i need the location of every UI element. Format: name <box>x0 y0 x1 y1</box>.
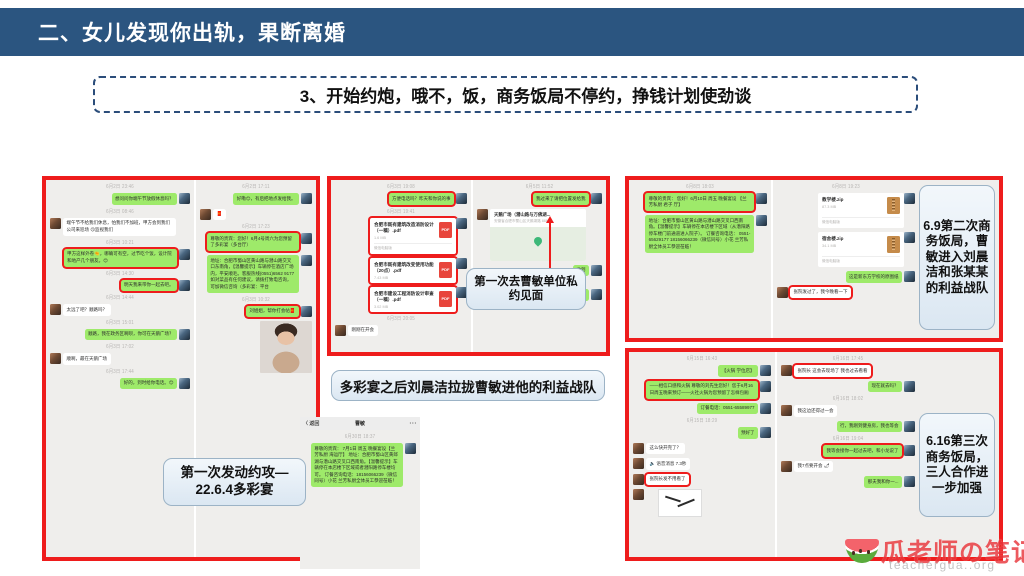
callout-after-colorful-banquet: 多彩宴之后刘晨洁拉拢曹敏进他的利益战队 <box>331 370 605 401</box>
avatar <box>904 232 915 243</box>
message-timestamp: 6月3日 10:32 <box>196 296 316 303</box>
chat-bubble[interactable]: 尊敬的贵宾：您好！6月4号周六为您预留了多彩宴（多台厅） <box>207 233 299 251</box>
chat-message-row: 地址：合肥市蜀山区黄山路与潜山路交叉口东南角，【温馨提示】车辆停在酒店广场内，平… <box>200 255 312 293</box>
chat-bubble[interactable]: 顺路，我在政务区啊呗，你可在天鹅广场？ <box>85 329 178 341</box>
message-timestamp: 6月3日 15:01 <box>46 319 194 326</box>
avatar <box>904 381 915 392</box>
chat-message-row: 张院长发不用看了 <box>633 474 771 486</box>
message-timestamp: 6月3日 19:41 <box>331 208 471 215</box>
callout-third-business-meal: 6.16第三次商务饭局，三人合作进一步加强 <box>919 413 995 517</box>
avatar <box>405 443 416 454</box>
callout-first-attack-text: 第一次发动约攻—22.6.4多彩宴 <box>167 465 302 499</box>
chat-bubble[interactable]: 订餐电话：0551-65589977 <box>697 403 758 415</box>
avatar <box>456 218 467 229</box>
file-attachment-card[interactable]: 宿舍楼.zip34.1 MB微信电脑版 <box>818 232 904 267</box>
chat-message-row: 好的，到时给你电话。😊 <box>50 378 190 390</box>
message-timestamp: 6月3日 17:44 <box>46 368 194 375</box>
chat-message-row: 甲方这样外卷🤏，哪确可有空，过节吃个饭，设计院和地产几个朋友。😊 <box>50 249 190 267</box>
chat-bubble[interactable]: 方便电话吗？昨天和你说的事 <box>389 193 455 205</box>
chat-file-row: 合肥市既有建筑改变使用功能（20点）.pdf7.43 MBPDF <box>335 258 467 283</box>
chat-message-row: 顺路，我在政务区啊呗，你可在天鹅广场？ <box>50 329 190 341</box>
file-size: 34.1 MB <box>822 244 843 248</box>
avatar <box>781 461 792 472</box>
message-timestamp: 6月3日 14:44 <box>46 295 194 302</box>
avatar <box>760 403 771 414</box>
chat-bubble[interactable]: 好嘞😊，有后把地点发给我。 <box>233 193 299 205</box>
avatar <box>50 304 61 315</box>
chat-message-row: 【火锅 学位店】 <box>633 365 771 377</box>
chat-bubble[interactable]: 我过来了请把位置发给我 <box>533 193 590 205</box>
chat-message-row: ——相信口感和火锅 尊敬的刘先生您好！您于6月16日周五晚來预订——火社火锅为您… <box>633 381 771 399</box>
pdf-file-icon: PDF <box>439 291 452 307</box>
chat-bubble[interactable]: 地址：合肥市蜀山区黄山路与潜山路交叉口东南角，【温馨提示】车辆停在酒店广场内，平… <box>207 255 299 293</box>
avatar <box>760 427 771 438</box>
message-timestamp: 6月16日 19:04 <box>777 436 919 443</box>
callout-third-business-meal-text: 6.16第三次商务饭局，三人合作进一步加强 <box>923 434 991 496</box>
avatar <box>756 215 767 226</box>
chat-column-mid-a: 6月3日 19:08方便电话吗？昨天和你说的事6月3日 19:41合肥市既有建筑… <box>331 180 473 352</box>
message-timestamp: 6月3日 20:05 <box>331 315 471 322</box>
file-size: 7.43 MB <box>374 276 439 280</box>
chat-message-row: 我过来了请把位置发给我 <box>477 193 602 205</box>
chat-message-row: 想问问你端午节放假休息吗？ <box>50 193 190 205</box>
message-timestamp: 6月8日 18:03 <box>629 184 771 191</box>
slide-header-bar: 二、女儿发现你出轨，果断离婚 <box>0 8 1024 56</box>
zip-file-icon <box>887 197 900 214</box>
avatar <box>760 365 771 376</box>
message-timestamp: 6月3日 19:08 <box>331 184 471 191</box>
watermelon-icon <box>845 539 879 563</box>
file-name: 合肥市既有建筑改造消防设计（一稿）.pdf <box>374 222 439 234</box>
avatar <box>591 193 602 204</box>
avatar <box>781 365 792 376</box>
file-attachment-card[interactable]: 合肥市既有建筑改造消防设计（一稿）.pdf1.6 MBPDF微信电脑版 <box>370 218 456 254</box>
chat-screen-header: 〈 返回 曹敏 ··· <box>300 417 420 431</box>
chat-location-row: 天鹅广场（潜山路与万佛湖...安徽省合肥市蜀山区天鹅湖路 888号 <box>477 209 602 261</box>
zip-file-icon <box>887 236 900 253</box>
avatar <box>633 474 644 485</box>
file-name: 宿舍楼.zip <box>822 236 843 242</box>
callout-first-private-visit-text: 第一次去曹敏单位私约见面 <box>471 275 581 304</box>
chat-bubble[interactable]: 太远了吧？顺路吗？ <box>63 304 111 316</box>
watermark: 瓜老师の笔记 teachergua..org <box>845 528 1020 574</box>
message-timestamp: 6月3日 10:21 <box>46 239 194 246</box>
avatar <box>904 193 915 204</box>
avatar <box>904 476 915 487</box>
avatar <box>335 325 346 336</box>
chat-bubble[interactable]: 行，我刚到健身房，我也等会 <box>837 421 903 433</box>
avatar <box>179 193 190 204</box>
avatar <box>301 193 312 204</box>
message-timestamp: 6月15日 16:43 <box>629 356 775 363</box>
chat-bubble[interactable]: 【火锅 学位店】 <box>718 365 758 377</box>
avatar <box>904 271 915 282</box>
chat-bubble[interactable]: 顺啊，最在天鹅广场 <box>63 353 111 365</box>
chat-message-row: 方便电话吗？昨天和你说的事 <box>335 193 467 205</box>
avatar <box>179 329 190 340</box>
chat-bubble[interactable]: 我等会接你一起过去吧，和小龙说了 <box>823 445 902 457</box>
message-timestamp: 6月15日 18:29 <box>629 418 775 425</box>
chat-message-row: 明天我来带你一起去吧。 <box>50 280 190 292</box>
pdf-file-icon: PDF <box>439 222 452 238</box>
chat-bubble[interactable]: 张院发过了，我今晚看一下 <box>790 287 851 299</box>
chat-message-row: 🧧 <box>200 209 312 221</box>
avatar <box>781 405 792 416</box>
chat-title: 曹敏 <box>355 420 365 427</box>
screenshot-panel-mid-top: 6月3日 19:08方便电话吗？昨天和你说的事6月3日 19:41合肥市既有建筑… <box>327 176 610 356</box>
file-name: 合肥市既有建筑改变使用功能（20点）.pdf <box>374 262 439 274</box>
sticker-image[interactable] <box>658 489 702 517</box>
chat-bubble[interactable]: 想问问你端午节放假休息吗？ <box>112 193 178 205</box>
chat-column-rt-a: 6月8日 18:03尊敬的贵宾： 您好！6月10日 周五 晚餐宴设 【兰芳私厨 … <box>629 180 773 338</box>
chat-message-row: 🔈 语音消息 7.3秒 <box>633 458 771 470</box>
file-size: 1.6 MB <box>374 236 439 240</box>
chat-message-row: 这么快开完了？ <box>633 443 771 455</box>
avatar <box>591 265 602 276</box>
avatar <box>756 193 767 204</box>
chat-bubble[interactable]: 🔈 语音消息 7.3秒 <box>646 458 690 470</box>
chat-bubble[interactable]: 刘姐姐，帮你打会帖🧧 <box>246 306 299 318</box>
chat-message-row: 我等会接你一起过去吧，和小龙说了 <box>781 445 915 457</box>
red-arrow-annotation <box>549 222 551 274</box>
chat-column-rb-a: 6月15日 16:43【火锅 学位店】——相信口感和火锅 尊敬的刘先生您好！您于… <box>629 352 777 557</box>
chat-photo-row <box>200 321 312 373</box>
message-timestamp: 6月2日 23:46 <box>46 184 194 191</box>
callout-after-colorful-banquet-text: 多彩宴之后刘晨洁拉拢曹敏进他的利益战队 <box>340 376 597 396</box>
avatar <box>200 209 211 220</box>
message-timestamp: 6月5日 11:52 <box>473 184 606 191</box>
location-card[interactable]: 天鹅广场（潜山路与万佛湖...安徽省合肥市蜀山区天鹅湖路 888号 <box>490 209 586 261</box>
chat-file-row: 合肥市既有建筑改造消防设计（一稿）.pdf1.6 MBPDF微信电脑版 <box>335 218 467 254</box>
chat-file-row: 宿舍楼.zip34.1 MB微信电脑版 <box>777 232 915 267</box>
chat-message-row: 预好了 <box>633 427 771 439</box>
photo-attachment[interactable] <box>260 321 312 373</box>
chat-message-row: 这是新东方学校的原图纸 <box>777 271 915 283</box>
subtitle-text: 3、开始约炮，哦不，饭，商务饭局不停约，挣钱计划使劲谈 <box>260 82 751 107</box>
callout-second-business-meal-text: 6.9第二次商务饭局，曹敏进入刘晨洁和张某某的利益战队 <box>923 219 991 297</box>
chat-message-row: 那夫我和你一... <box>781 476 915 488</box>
chat-message-row: 好嘞😊，有后把地点发给我。 <box>200 193 312 205</box>
file-attachment-card[interactable]: 教学楼.zip87.3 MB微信电脑版 <box>818 193 904 228</box>
avatar <box>179 249 190 260</box>
chat-message-row: 太远了吧？顺路吗？ <box>50 304 190 316</box>
chat-bubble[interactable]: 这是新东方学校的原图纸 <box>846 271 903 283</box>
chat-file-row: 合肥市建设工程消防设计审查（一稿）.pdf3.02 MBPDF <box>335 287 467 312</box>
callout-second-business-meal: 6.9第二次商务饭局，曹敏进入刘晨洁和张某某的利益战队 <box>919 185 995 330</box>
message-timestamp: 6月30日 18:37 <box>300 434 420 441</box>
location-title: 天鹅广场（潜山路与万佛湖... <box>490 209 586 218</box>
avatar <box>633 489 644 500</box>
avatar <box>456 258 467 269</box>
chat-message-row: 顺啊，最在天鹅广场 <box>50 353 190 365</box>
avatar <box>591 289 602 300</box>
avatar <box>633 443 644 454</box>
more-options-icon[interactable]: ··· <box>410 421 418 427</box>
chat-bubble[interactable]: 🧧 <box>213 209 226 221</box>
file-attachment-card[interactable]: 合肥市建设工程消防设计审查（一稿）.pdf3.02 MBPDF <box>370 287 456 312</box>
watermark-site: teachergua..org <box>889 558 996 572</box>
chat-bubble[interactable]: 地址：合肥市蜀山区黄山路与潜山路交叉口西南角。【温馨提示】车辆停在本店楼下区域（… <box>645 215 754 253</box>
back-icon[interactable]: 〈 返回 <box>303 420 319 427</box>
chat-message-row: 张院长 这会去现场了 我也过去看看 <box>781 365 915 377</box>
chat-bubble[interactable]: 刚刚在开会 <box>348 325 378 337</box>
message-timestamp: 6月3日 08:46 <box>46 208 194 215</box>
chat-bubble[interactable]: 尊敬的贵宾： 7月1日 周五 晚餐宴设【兰芳私厨 海运厅】 地址：合肥市蜀山区黄… <box>311 443 403 487</box>
chat-bubble[interactable]: 张院长发不用看了 <box>646 474 689 486</box>
avatar <box>477 209 488 220</box>
chat-bubble[interactable]: 端午节不给我们休息，怕我们不加班，甲方会到我们公司来巡场 🙃监视我们 <box>63 218 176 236</box>
chat-message-row: 地址：合肥市蜀山区黄山路与潜山路交叉口西南角。【温馨提示】车辆停在本店楼下区域（… <box>633 215 767 253</box>
chat-message-row: 订餐电话：0551-65589977 <box>633 403 771 415</box>
chat-message-row: 尊敬的贵宾： 您好！6月10日 周五 晚餐宴设 【兰芳私厨 君子 厅】 <box>633 193 767 211</box>
chat-message-row: 我这边还得过一会 <box>781 405 915 417</box>
file-source-label: 微信电脑版 <box>822 256 900 264</box>
avatar <box>50 218 61 229</box>
chat-message-row: 现在就去吗？ <box>781 381 915 393</box>
file-source-label: 微信电脑版 <box>374 243 452 251</box>
file-source-label: 微信电脑版 <box>822 217 900 225</box>
chat-message-row: 端午节不给我们休息，怕我们不加班，甲方会到我们公司来巡场 🙃监视我们 <box>50 218 190 236</box>
file-name: 合肥市建设工程消防设计审查（一稿）.pdf <box>374 291 439 303</box>
chat-bubble[interactable]: 我这边还得过一会 <box>794 405 837 417</box>
chat-message-row: 行，我刚到健身房，我也等会 <box>781 421 915 433</box>
chat-file-row: 教学楼.zip87.3 MB微信电脑版 <box>777 193 915 228</box>
avatar <box>633 458 644 469</box>
avatar <box>456 193 467 204</box>
message-timestamp: 6月3日 14:30 <box>46 270 194 277</box>
chat-bubble[interactable]: 明天我来带你一起去吧。 <box>121 280 178 292</box>
chat-message-row: 刚刚在开会 <box>335 325 467 337</box>
chat-bubble[interactable]: 甲方这样外卷🤏，哪确可有空，过节吃个饭，设计院和地产几个朋友。😊 <box>64 249 177 267</box>
message-timestamp: 6月8日 19:23 <box>773 184 919 191</box>
chat-message-row: 尊敬的贵宾： 7月1日 周五 晚餐宴设【兰芳私厨 海运厅】 地址：合肥市蜀山区黄… <box>304 443 416 487</box>
subtitle-callout-box: 3、开始约炮，哦不，饭，商务饭局不停约，挣钱计划使劲谈 <box>93 76 918 113</box>
chat-bubble[interactable]: 这么快开完了？ <box>646 443 685 455</box>
avatar <box>904 445 915 456</box>
chat-bubble[interactable]: 我7点要开会 🌶 <box>794 461 833 473</box>
chat-column-rb-b: 6月16日 17:45张院长 这会去现场了 我也过去看看现在就去吗？6月16日 … <box>777 352 919 557</box>
file-size: 87.3 MB <box>822 205 843 209</box>
chat-column-rt-b: 6月8日 19:23教学楼.zip87.3 MB微信电脑版宿舍楼.zip34.1… <box>773 180 919 338</box>
chat-message-row: 刘姐姐，帮你打会帖🧧 <box>200 306 312 318</box>
chat-column-mid-bottom: 6月30日 18:37尊敬的贵宾： 7月1日 周五 晚餐宴设【兰芳私厨 海运厅】… <box>300 430 420 569</box>
avatar <box>50 353 61 364</box>
avatar <box>301 255 312 266</box>
message-timestamp: 6月16日 17:45 <box>777 356 919 363</box>
chat-bubble[interactable]: 现在就去吗？ <box>868 381 902 393</box>
message-timestamp: 6月16日 18:02 <box>777 396 919 403</box>
message-timestamp: 6月2日 17:11 <box>196 184 316 191</box>
pdf-file-icon: PDF <box>439 262 452 278</box>
callout-first-private-visit: 第一次去曹敏单位私约见面 <box>466 268 586 310</box>
chat-sticker-row <box>633 489 771 517</box>
chat-column-mid-b: 6月5日 11:52我过来了请把位置发给我天鹅广场（潜山路与万佛湖...安徽省合… <box>473 180 606 352</box>
message-timestamp: 6月2日 17:23 <box>196 224 316 231</box>
chat-bubble[interactable]: 好的，到时给你电话。😊 <box>120 378 177 390</box>
message-timestamp: 6月3日 17:02 <box>46 344 194 351</box>
avatar <box>179 378 190 389</box>
chat-bubble[interactable]: ——相信口感和火锅 尊敬的刘先生您好！您于6月16日周五晚來预订——火社火锅为您… <box>646 381 758 399</box>
avatar <box>301 306 312 317</box>
file-attachment-card[interactable]: 合肥市既有建筑改变使用功能（20点）.pdf7.43 MBPDF <box>370 258 456 283</box>
avatar <box>179 280 190 291</box>
avatar <box>904 421 915 432</box>
page-title: 二、女儿发现你出轨，果断离婚 <box>38 17 346 47</box>
avatar <box>760 381 771 392</box>
chat-message-row: 张院发过了，我今晚看一下 <box>777 287 915 299</box>
avatar <box>777 287 788 298</box>
chat-message-row: 尊敬的贵宾：您好！6月4号周六为您预留了多彩宴（多台厅） <box>200 233 312 251</box>
file-name: 教学楼.zip <box>822 197 843 203</box>
chat-bubble[interactable]: 尊敬的贵宾： 您好！6月10日 周五 晚餐宴设 【兰芳私厨 君子 厅】 <box>645 193 754 211</box>
chat-bubble[interactable]: 张院长 这会去现场了 我也过去看看 <box>794 365 871 377</box>
chat-message-row: 我7点要开会 🌶 <box>781 461 915 473</box>
chat-bubble[interactable]: 预好了 <box>738 427 759 439</box>
chat-bubble[interactable]: 那夫我和你一... <box>864 476 902 488</box>
map-pin-icon <box>490 227 586 261</box>
avatar <box>301 233 312 244</box>
screenshot-mid-bottom: 〈 返回 曹敏 ··· 6月30日 18:37尊敬的贵宾： 7月1日 周五 晚餐… <box>300 417 420 569</box>
callout-first-attack: 第一次发动约攻—22.6.4多彩宴 <box>163 458 306 506</box>
file-size: 3.02 MB <box>374 305 439 309</box>
location-address: 安徽省合肥市蜀山区天鹅湖路 888号 <box>490 218 586 227</box>
